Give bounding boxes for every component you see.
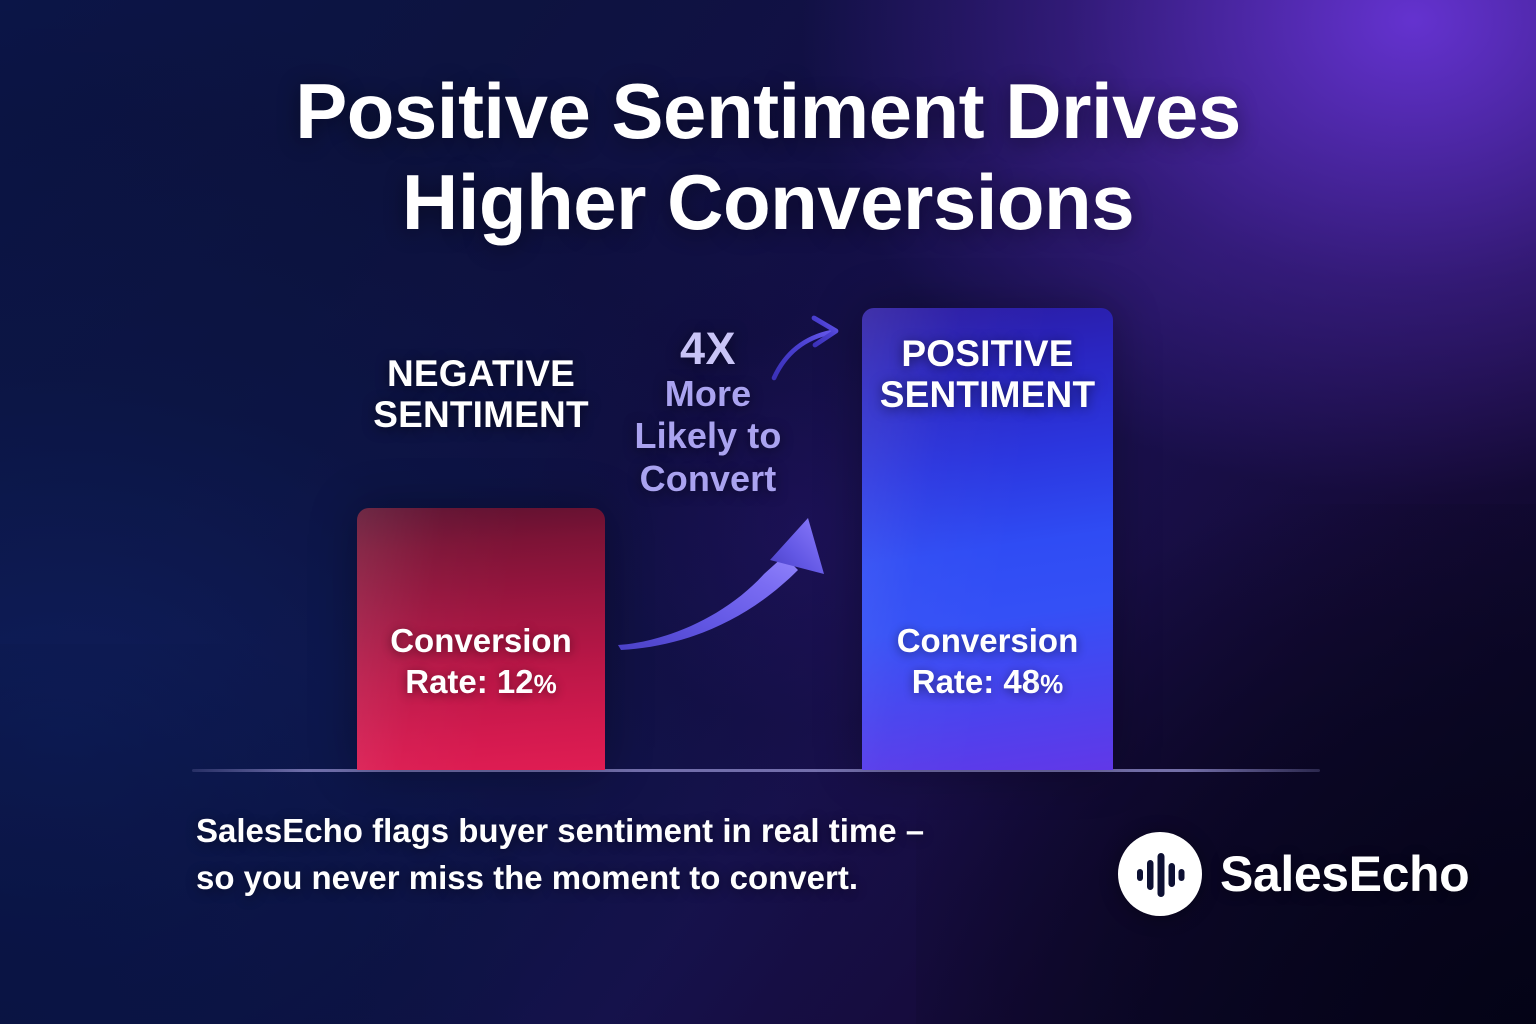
title-line-1: Positive Sentiment Drives bbox=[295, 67, 1241, 155]
bar-value-negative-line1: Conversion bbox=[390, 622, 572, 659]
bar-value-negative-rate: Rate: 12 bbox=[405, 663, 533, 700]
brand-logo[interactable]: SalesEcho bbox=[1118, 832, 1469, 916]
footer-caption-line-2: so you never miss the moment to convert. bbox=[196, 855, 1076, 902]
footer-caption-line-1: SalesEcho flags buyer sentiment in real … bbox=[196, 812, 924, 849]
bar-value-positive: Conversion Rate: 48% bbox=[862, 620, 1113, 703]
bar-label-negative-line2: SENTIMENT bbox=[373, 394, 589, 435]
bar-label-negative-line1: NEGATIVE bbox=[387, 353, 575, 394]
small-curved-arrow-icon bbox=[770, 312, 856, 384]
bar-label-negative: NEGATIVE SENTIMENT bbox=[330, 353, 632, 436]
bar-value-negative: Conversion Rate: 12% bbox=[357, 620, 605, 703]
bar-value-positive-unit: % bbox=[1040, 669, 1063, 699]
bar-label-positive: POSITIVE SENTIMENT bbox=[862, 333, 1113, 416]
title-line-2: Higher Conversions bbox=[0, 157, 1536, 248]
callout-line-3: Likely to bbox=[608, 415, 808, 457]
page-title: Positive Sentiment Drives Higher Convers… bbox=[0, 66, 1536, 249]
infographic-canvas: Positive Sentiment Drives Higher Convers… bbox=[0, 0, 1536, 1024]
callout-line-4: Convert bbox=[608, 458, 808, 500]
soundwave-icon bbox=[1118, 832, 1202, 916]
bar-value-positive-line1: Conversion bbox=[897, 622, 1079, 659]
bar-value-positive-rate: Rate: 48 bbox=[912, 663, 1040, 700]
growth-curved-arrow-icon bbox=[612, 512, 852, 652]
bar-label-positive-line1: POSITIVE bbox=[901, 333, 1073, 374]
bar-value-negative-unit: % bbox=[534, 669, 557, 699]
footer-caption: SalesEcho flags buyer sentiment in real … bbox=[196, 808, 1076, 902]
bar-label-positive-line2: SENTIMENT bbox=[880, 374, 1096, 415]
brand-wordmark: SalesEcho bbox=[1220, 845, 1469, 903]
